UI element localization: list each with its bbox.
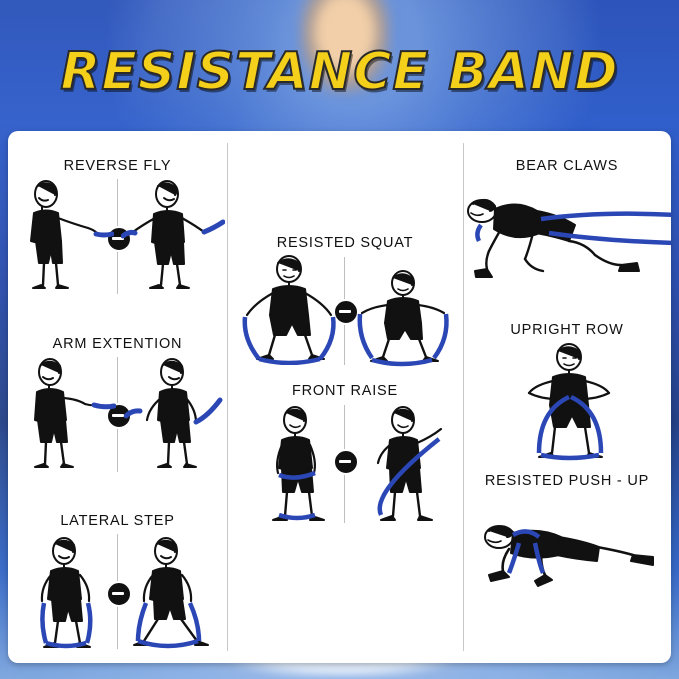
figure-resisted-push-up	[469, 503, 665, 613]
figure-front-raise-right	[351, 403, 459, 525]
figure-resisted-squat-right	[351, 261, 455, 367]
exercise-label-bear-claws: BEAR CLAWS	[463, 158, 671, 174]
figure-arm-extention-right	[124, 356, 224, 472]
figure-upright-row	[515, 341, 623, 463]
exercise-label-arm-extention: ARM EXTENTION	[8, 336, 227, 352]
figure-reverse-fly-left	[14, 178, 114, 293]
page-title: RESISTANCE BAND	[0, 42, 679, 102]
column-left: REVERSE FLY	[8, 131, 227, 663]
figure-bear-claws	[457, 179, 671, 299]
column-middle: RESISTED SQUAT	[227, 131, 463, 663]
exercise-card: REVERSE FLY	[8, 131, 671, 663]
figure-lateral-step-right	[122, 535, 222, 651]
exercise-label-front-raise: FRONT RAISE	[227, 383, 463, 399]
figure-resisted-squat-left	[235, 253, 343, 365]
exercise-label-resisted-push-up: RESISTED PUSH - UP	[463, 473, 671, 489]
figure-arm-extention-left	[16, 356, 116, 472]
figure-reverse-fly-right	[121, 178, 225, 293]
exercise-label-lateral-step: LATERAL STEP	[8, 513, 227, 529]
figure-front-raise-left	[251, 403, 343, 525]
column-right: BEAR CLAWS UPRIGHT ROW	[463, 131, 671, 663]
exercise-label-reverse-fly: REVERSE FLY	[8, 158, 227, 174]
exercise-label-upright-row: UPRIGHT ROW	[463, 322, 671, 338]
exercise-label-resisted-squat: RESISTED SQUAT	[227, 235, 463, 251]
figure-lateral-step-left	[18, 535, 114, 651]
